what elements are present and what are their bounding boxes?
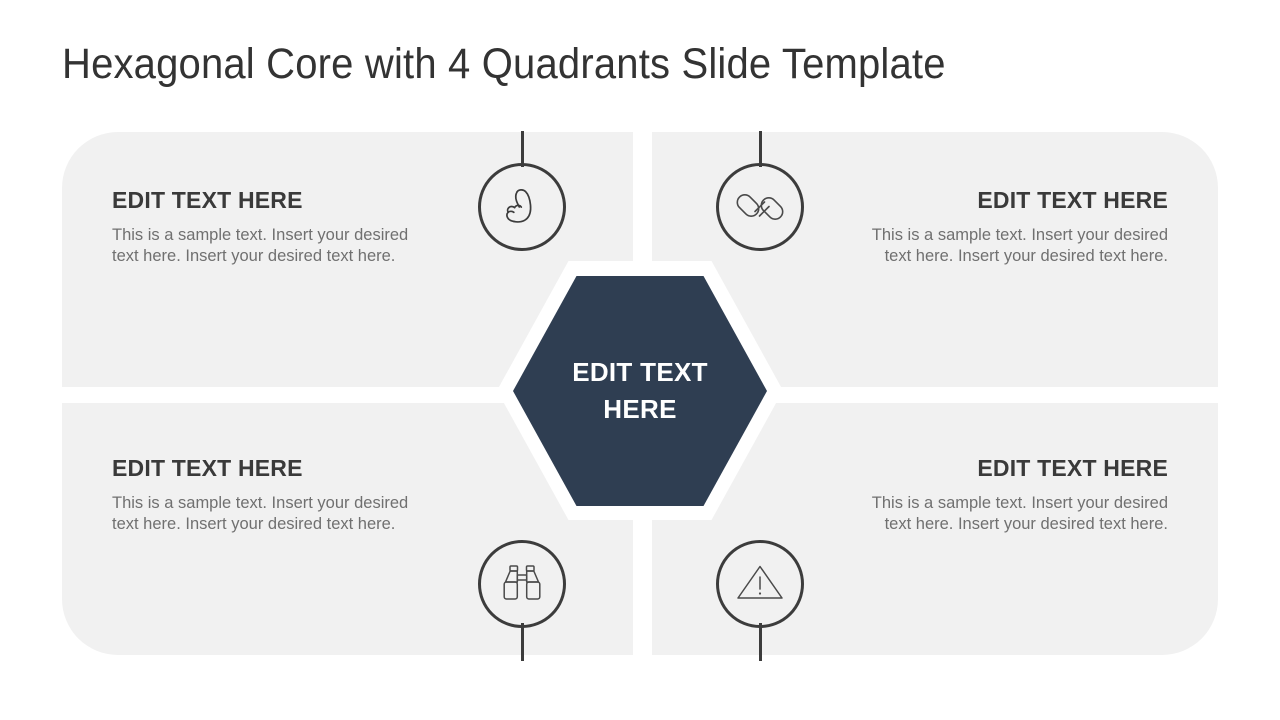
quadrant-body-top-left: This is a sample text. Insert your desir… [112,225,422,267]
quadrant-text-bottom-right: EDIT TEXT HERE This is a sample text. In… [858,456,1168,535]
icon-node-bottom-left[interactable] [478,540,566,628]
quadrant-body-bottom-right: This is a sample text. Insert your desir… [858,493,1168,535]
warning-triangle-icon [716,540,804,628]
quadrant-heading-bottom-right: EDIT TEXT HERE [858,456,1168,481]
quadrant-text-bottom-left: EDIT TEXT HERE This is a sample text. In… [112,456,422,535]
page-title: Hexagonal Core with 4 Quadrants Slide Te… [62,40,946,89]
connector-line-top-right [759,131,762,167]
slide-canvas: Hexagonal Core with 4 Quadrants Slide Te… [0,0,1280,720]
connector-line-bottom-right [759,623,762,661]
connector-line-bottom-left [521,623,524,661]
connector-line-top-left [521,131,524,167]
icon-node-top-right[interactable] [716,163,804,251]
quadrant-text-top-right: EDIT TEXT HERE This is a sample text. In… [858,188,1168,267]
binoculars-icon [478,540,566,628]
icon-node-bottom-right[interactable] [716,540,804,628]
hexagon-label-line1: EDIT TEXT [572,357,708,387]
chain-link-icon [716,163,804,251]
hexagon-label: EDIT TEXT HERE [565,354,715,428]
quadrant-body-bottom-left: This is a sample text. Insert your desir… [112,493,422,535]
center-hexagon[interactable]: EDIT TEXT HERE [497,261,783,520]
muscle-arm-icon [478,163,566,251]
quadrant-heading-top-left: EDIT TEXT HERE [112,188,422,213]
quadrant-body-top-right: This is a sample text. Insert your desir… [858,225,1168,267]
quadrant-heading-top-right: EDIT TEXT HERE [858,188,1168,213]
quadrant-heading-bottom-left: EDIT TEXT HERE [112,456,422,481]
icon-node-top-left[interactable] [478,163,566,251]
hexagon-label-line2: HERE [603,394,676,424]
quadrant-text-top-left: EDIT TEXT HERE This is a sample text. In… [112,188,422,267]
